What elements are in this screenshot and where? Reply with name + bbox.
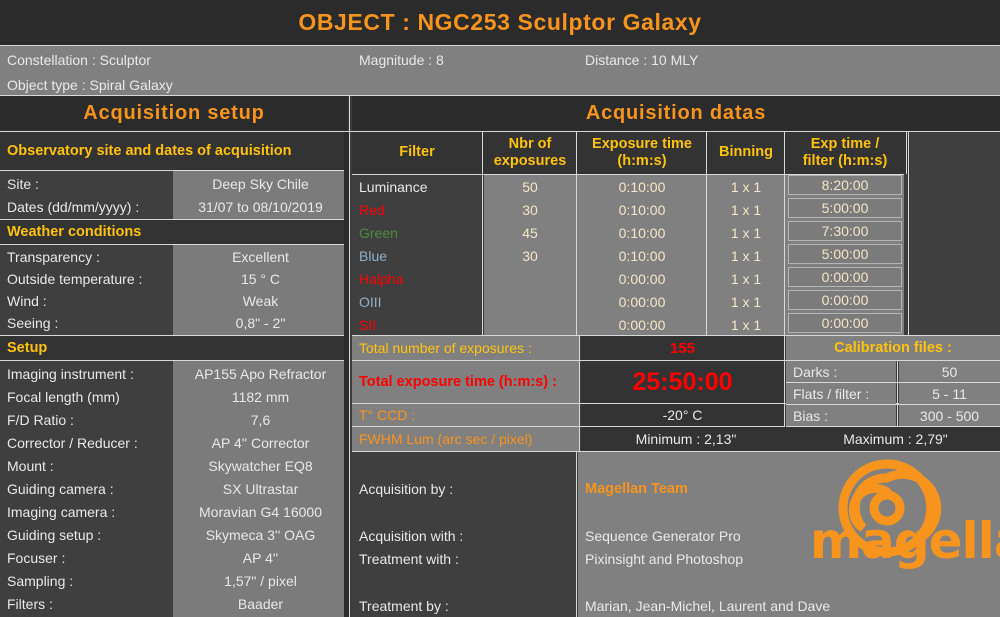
ccd-temperature-value: -20° C <box>581 404 784 426</box>
calibration-files-header: Calibration files : <box>786 336 1000 360</box>
focal-length-label: Focal length (mm) <box>0 385 172 408</box>
filters-label: Filters : <box>0 592 172 615</box>
observatory-section-header: Observatory site and dates of acquisitio… <box>0 132 348 170</box>
page-title: OBJECT : NGC253 Sculptor Galaxy <box>0 0 1000 45</box>
site-label: Site : <box>0 173 172 195</box>
distance-label: Distance : 10 MLY <box>578 48 858 71</box>
constellation-label: Constellation : Sculptor <box>0 48 340 71</box>
column-header-nbr-line1: Nbr of <box>484 136 576 153</box>
guiding-camera-label: Guiding camera : <box>0 477 172 500</box>
column-header-expfilter-line2: filter (h:m:s) <box>786 153 904 170</box>
filter-row-nbr: 45 <box>484 221 576 244</box>
total-exposures-label: Total number of exposures : <box>352 336 580 360</box>
temperature-value: 15 ° C <box>173 268 348 290</box>
dates-label: Dates (dd/mm/yyyy) : <box>0 196 172 218</box>
filter-row-exposure: 0:00:00 <box>578 313 706 336</box>
filter-row-name: Green <box>352 221 482 244</box>
imaging-camera-label: Imaging camera : <box>0 500 172 523</box>
wind-value: Weak <box>173 290 348 312</box>
treatment-by-label: Treatment by : <box>352 595 576 617</box>
filter-row-nbr <box>484 267 576 290</box>
filter-row-nbr: 50 <box>484 175 576 198</box>
treatment-with-value: Pixinsight and Photoshop <box>578 548 838 570</box>
treatment-by-value: Marian, Jean-Michel, Laurent and Dave <box>578 595 938 617</box>
corrector-label: Corrector / Reducer : <box>0 431 172 454</box>
filter-row-exp-total: 0:00:00 <box>788 290 902 310</box>
darks-value: 50 <box>899 361 1000 382</box>
acquisition-with-value: Sequence Generator Pro <box>578 525 838 547</box>
fwhm-minimum-value: Minimum : 2,13" <box>581 427 791 451</box>
filter-row-exp-total: 0:00:00 <box>788 267 902 287</box>
filter-row-name: Halpha <box>352 267 482 290</box>
temperature-label: Outside temperature : <box>0 268 172 290</box>
filter-row-name: OIII <box>352 290 482 313</box>
filter-row-binning: 1 x 1 <box>708 198 784 221</box>
filter-row-binning: 1 x 1 <box>708 313 784 336</box>
magellan-logo-wordmark: magellan <box>810 512 1000 570</box>
filter-row-exposure: 0:10:00 <box>578 175 706 198</box>
fwhm-maximum-value: Maximum : 2,79" <box>791 427 1000 451</box>
filter-row-exp-total: 8:20:00 <box>788 175 902 195</box>
acquisition-setup-title: Acquisition setup <box>0 96 348 131</box>
filter-row-exposure: 0:10:00 <box>578 221 706 244</box>
imaging-instrument-value: AP155 Apo Refractor <box>173 362 348 385</box>
setup-section-header: Setup <box>0 336 348 360</box>
filter-row-exp-total: 7:30:00 <box>788 221 902 241</box>
panel-gap <box>344 132 349 617</box>
acquisition-by-value: Magellan Team <box>578 478 838 500</box>
guiding-setup-value: Skymeca 3'' OAG <box>173 523 348 546</box>
filter-row-name: Blue <box>352 244 482 267</box>
dates-value: 31/07 to 08/10/2019 <box>173 196 348 218</box>
filter-row-nbr <box>484 290 576 313</box>
filter-row-nbr: 30 <box>484 244 576 267</box>
filter-row-exp-total: 5:00:00 <box>788 198 902 218</box>
filter-row-exposure: 0:10:00 <box>578 198 706 221</box>
weather-section-header: Weather conditions <box>0 220 348 244</box>
treatment-with-label: Treatment with : <box>352 548 576 570</box>
fwhm-label: FWHM Lum (arc sec / pixel) <box>352 427 580 451</box>
filter-row-name: Red <box>352 198 482 221</box>
object-type-label: Object type : Spiral Galaxy <box>0 73 340 96</box>
seeing-label: Seeing : <box>0 312 172 334</box>
imaging-instrument-label: Imaging instrument : <box>0 362 172 385</box>
transparency-value: Excellent <box>173 246 348 268</box>
filter-row-nbr <box>484 313 576 336</box>
ccd-temperature-label: T° CCD : <box>352 404 580 426</box>
mount-label: Mount : <box>0 454 172 477</box>
seeing-value: 0,8" - 2" <box>173 312 348 334</box>
filter-row-binning: 1 x 1 <box>708 221 784 244</box>
guiding-camera-value: SX Ultrastar <box>173 477 348 500</box>
mount-value: Skywatcher EQ8 <box>173 454 348 477</box>
filter-row-binning: 1 x 1 <box>708 267 784 290</box>
corrector-value: AP 4'' Corrector <box>173 431 348 454</box>
darks-label: Darks : <box>786 361 896 382</box>
column-header-exposure-line1: Exposure time <box>578 136 706 153</box>
acquisition-datas-title: Acquisition datas <box>352 96 1000 131</box>
site-value: Deep Sky Chile <box>173 173 348 195</box>
filter-row-name: SII <box>352 313 482 336</box>
flats-label: Flats / filter : <box>786 383 896 404</box>
transparency-label: Transparency : <box>0 246 172 268</box>
column-header-filter: Filter <box>352 132 482 174</box>
column-header-binning: Binning <box>708 132 784 174</box>
sampling-label: Sampling : <box>0 569 172 592</box>
guiding-setup-label: Guiding setup : <box>0 523 172 546</box>
filters-value: Baader <box>173 592 348 615</box>
acquisition-with-label: Acquisition with : <box>352 525 576 547</box>
total-exposure-time-value: 25:50:00 <box>581 361 784 403</box>
bias-value: 300 - 500 <box>899 405 1000 426</box>
sampling-value: 1,57" / pixel <box>173 569 348 592</box>
filter-row-name: Luminance <box>352 175 482 198</box>
filter-row-exposure: 0:00:00 <box>578 290 706 313</box>
total-exposure-time-label: Total exposure time (h:m:s) : <box>352 361 580 403</box>
column-header-exposure-line2: (h:m:s) <box>578 153 706 170</box>
focuser-label: Focuser : <box>0 546 172 569</box>
filter-row-binning: 1 x 1 <box>708 290 784 313</box>
filter-row-binning: 1 x 1 <box>708 175 784 198</box>
imaging-camera-value: Moravian G4 16000 <box>173 500 348 523</box>
filter-table-empty-column <box>910 132 1000 335</box>
filter-row-nbr: 30 <box>484 198 576 221</box>
column-header-nbr-line2: exposures <box>484 153 576 170</box>
bias-label: Bias : <box>786 405 896 426</box>
wind-label: Wind : <box>0 290 172 312</box>
filter-row-exposure: 0:10:00 <box>578 244 706 267</box>
filter-row-exp-total: 0:00:00 <box>788 313 902 333</box>
fd-ratio-label: F/D Ratio : <box>0 408 172 431</box>
magnitude-label: Magnitude : 8 <box>352 48 572 71</box>
column-header-expfilter-line1: Exp time / <box>786 136 904 153</box>
acquisition-by-label: Acquisition by : <box>352 478 576 500</box>
filter-row-exposure: 0:00:00 <box>578 267 706 290</box>
focuser-value: AP 4'' <box>173 546 348 569</box>
flats-value: 5 - 11 <box>899 383 1000 404</box>
fd-ratio-value: 7,6 <box>173 408 348 431</box>
filter-row-binning: 1 x 1 <box>708 244 784 267</box>
astro-data-sheet: OBJECT : NGC253 Sculptor Galaxy Constell… <box>0 0 1000 617</box>
focal-length-value: 1182 mm <box>173 385 348 408</box>
total-exposures-value: 155 <box>581 336 784 360</box>
filter-row-exp-total: 5:00:00 <box>788 244 902 264</box>
